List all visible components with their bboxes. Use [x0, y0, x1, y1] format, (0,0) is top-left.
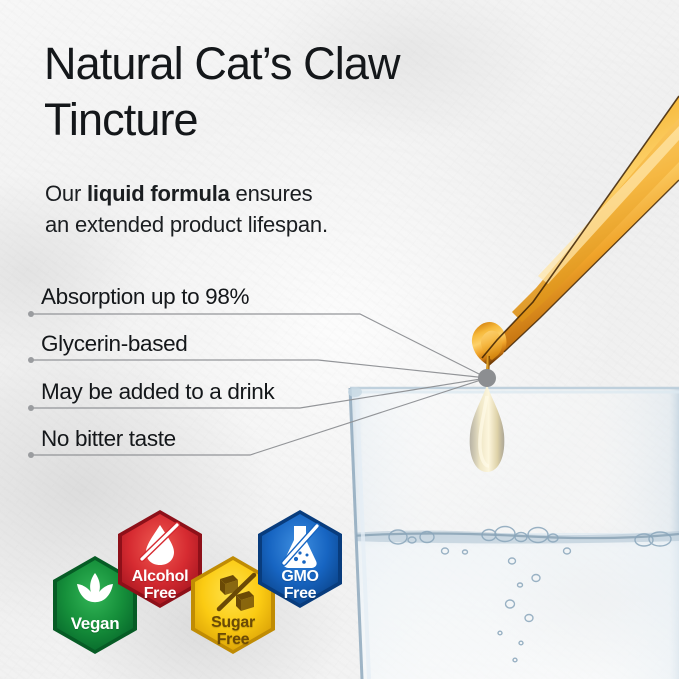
callout-dot-1: [28, 357, 34, 363]
callout-dot-2: [28, 405, 34, 411]
callout-dot-3: [28, 452, 34, 458]
product-infographic: Natural Cat’s Claw Tincture Our liquid f…: [0, 0, 679, 679]
feature-label-drink: May be added to a drink: [41, 379, 274, 405]
feature-label-absorption: Absorption up to 98%: [41, 284, 249, 310]
callout-dot-0: [28, 311, 34, 317]
callout-hub-dot: [478, 369, 496, 387]
subtitle-prefix: Our: [45, 181, 87, 206]
page-title: Natural Cat’s Claw Tincture: [44, 36, 514, 148]
feature-label-glycerin: Glycerin-based: [41, 331, 187, 357]
subtitle-emphasis: liquid formula: [87, 181, 230, 206]
badge-gmo-free: GMO Free: [253, 507, 347, 611]
badge-gmo-free-shape: [253, 507, 347, 611]
callout-line-1: [31, 360, 487, 378]
page-subtitle: Our liquid formula ensures an extended p…: [45, 178, 425, 240]
sugar-cubes-slash-icon: [219, 575, 254, 611]
feature-label-taste: No bitter taste: [41, 426, 176, 452]
